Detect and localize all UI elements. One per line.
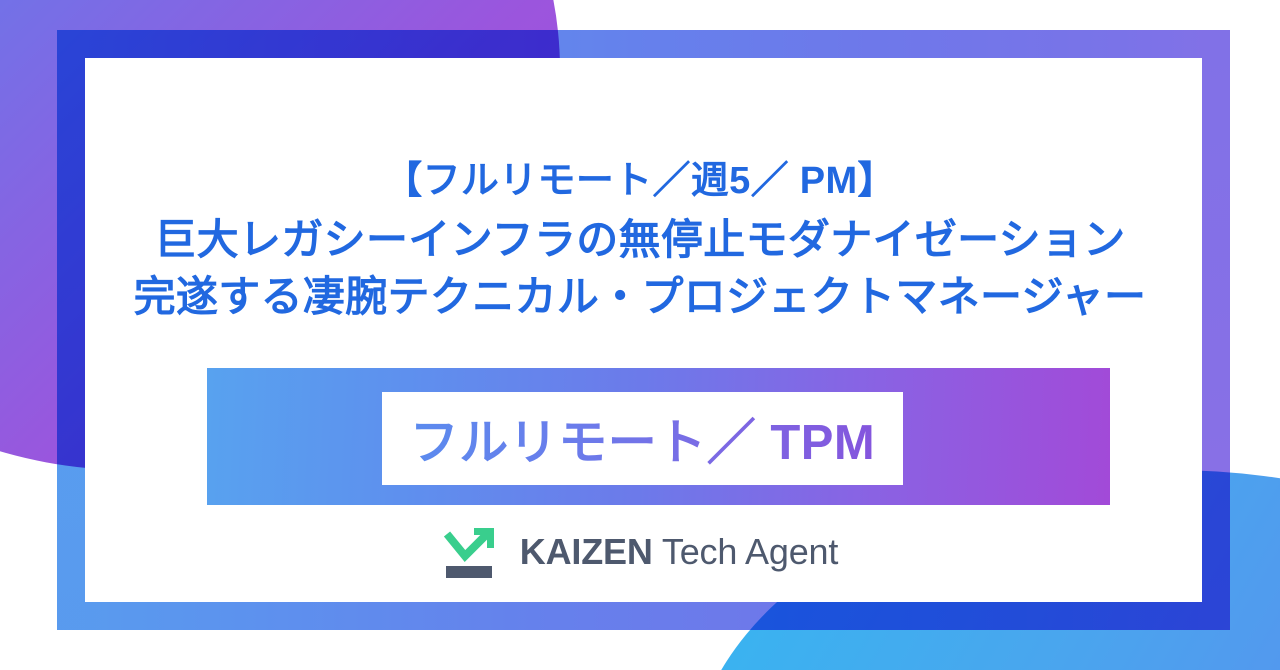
- badge-label: フルリモート／ TPM: [410, 403, 875, 474]
- headline-line-3: 完遂する凄腕テクニカル・プロジェクトマネージャー: [0, 270, 1280, 325]
- banner-canvas: 【フルリモート／週5／ PM】 巨大レガシーインフラの無停止モダナイゼーション …: [0, 0, 1280, 670]
- logo-wordmark: KAIZEN Tech Agent: [520, 534, 838, 570]
- logo-product: Tech Agent: [662, 531, 838, 572]
- logo-lockup: KAIZEN Tech Agent: [0, 521, 1280, 583]
- badge-callout: フルリモート／ TPM: [382, 392, 903, 485]
- headline-line-2: 巨大レガシーインフラの無停止モダナイゼーション: [0, 210, 1280, 270]
- rising-arrow-icon: [442, 521, 504, 583]
- logo-brand: KAIZEN: [520, 531, 653, 572]
- logo-product-spacer: [653, 531, 662, 572]
- page-title: 【フルリモート／週5／ PM】 巨大レガシーインフラの無停止モダナイゼーション …: [0, 0, 1280, 324]
- headline-line-1: 【フルリモート／週5／ PM】: [0, 162, 1280, 200]
